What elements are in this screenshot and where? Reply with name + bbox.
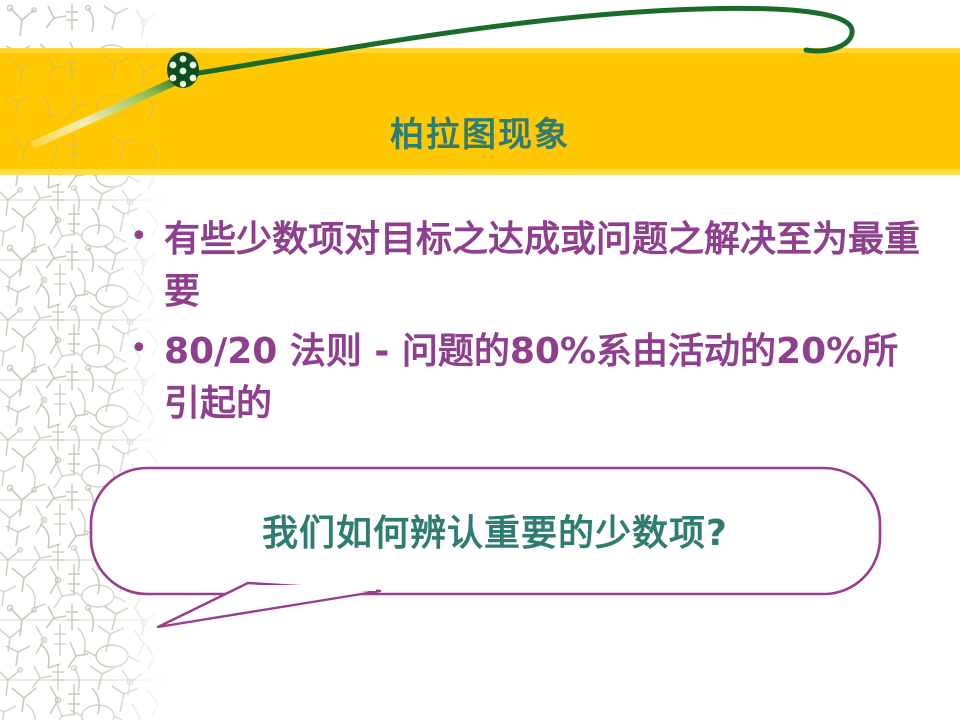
- banner-bottom-edge: [0, 169, 960, 175]
- page-title: 柏拉图现象: [0, 118, 960, 152]
- list-item: • 有些少数项对目标之达成或问题之解决至为最重要: [122, 214, 922, 318]
- bullet-marker-icon: •: [122, 326, 164, 372]
- title-banner: [0, 48, 960, 175]
- banner-texture-overlay: [0, 48, 168, 175]
- callout-bubble: 我们如何辨认重要的少数项?: [80, 455, 910, 645]
- banner-line-pattern-icon: [0, 48, 168, 175]
- bullet-text: 80/20 法则 - 问题的80%系由活动的20%所引起的: [164, 326, 922, 430]
- bullet-marker-icon: •: [122, 214, 164, 260]
- presentation-slide: 柏拉图现象 • 有些少数项对目标之达成或问题之解决至为最重要 • 80/20 法…: [0, 0, 960, 720]
- list-item: • 80/20 法则 - 问题的80%系由活动的20%所引起的: [122, 326, 922, 430]
- bullet-list: • 有些少数项对目标之达成或问题之解决至为最重要 • 80/20 法则 - 问题…: [122, 214, 922, 438]
- callout-text: 我们如何辨认重要的少数项?: [90, 510, 900, 558]
- bullet-text: 有些少数项对目标之达成或问题之解决至为最重要: [164, 214, 922, 318]
